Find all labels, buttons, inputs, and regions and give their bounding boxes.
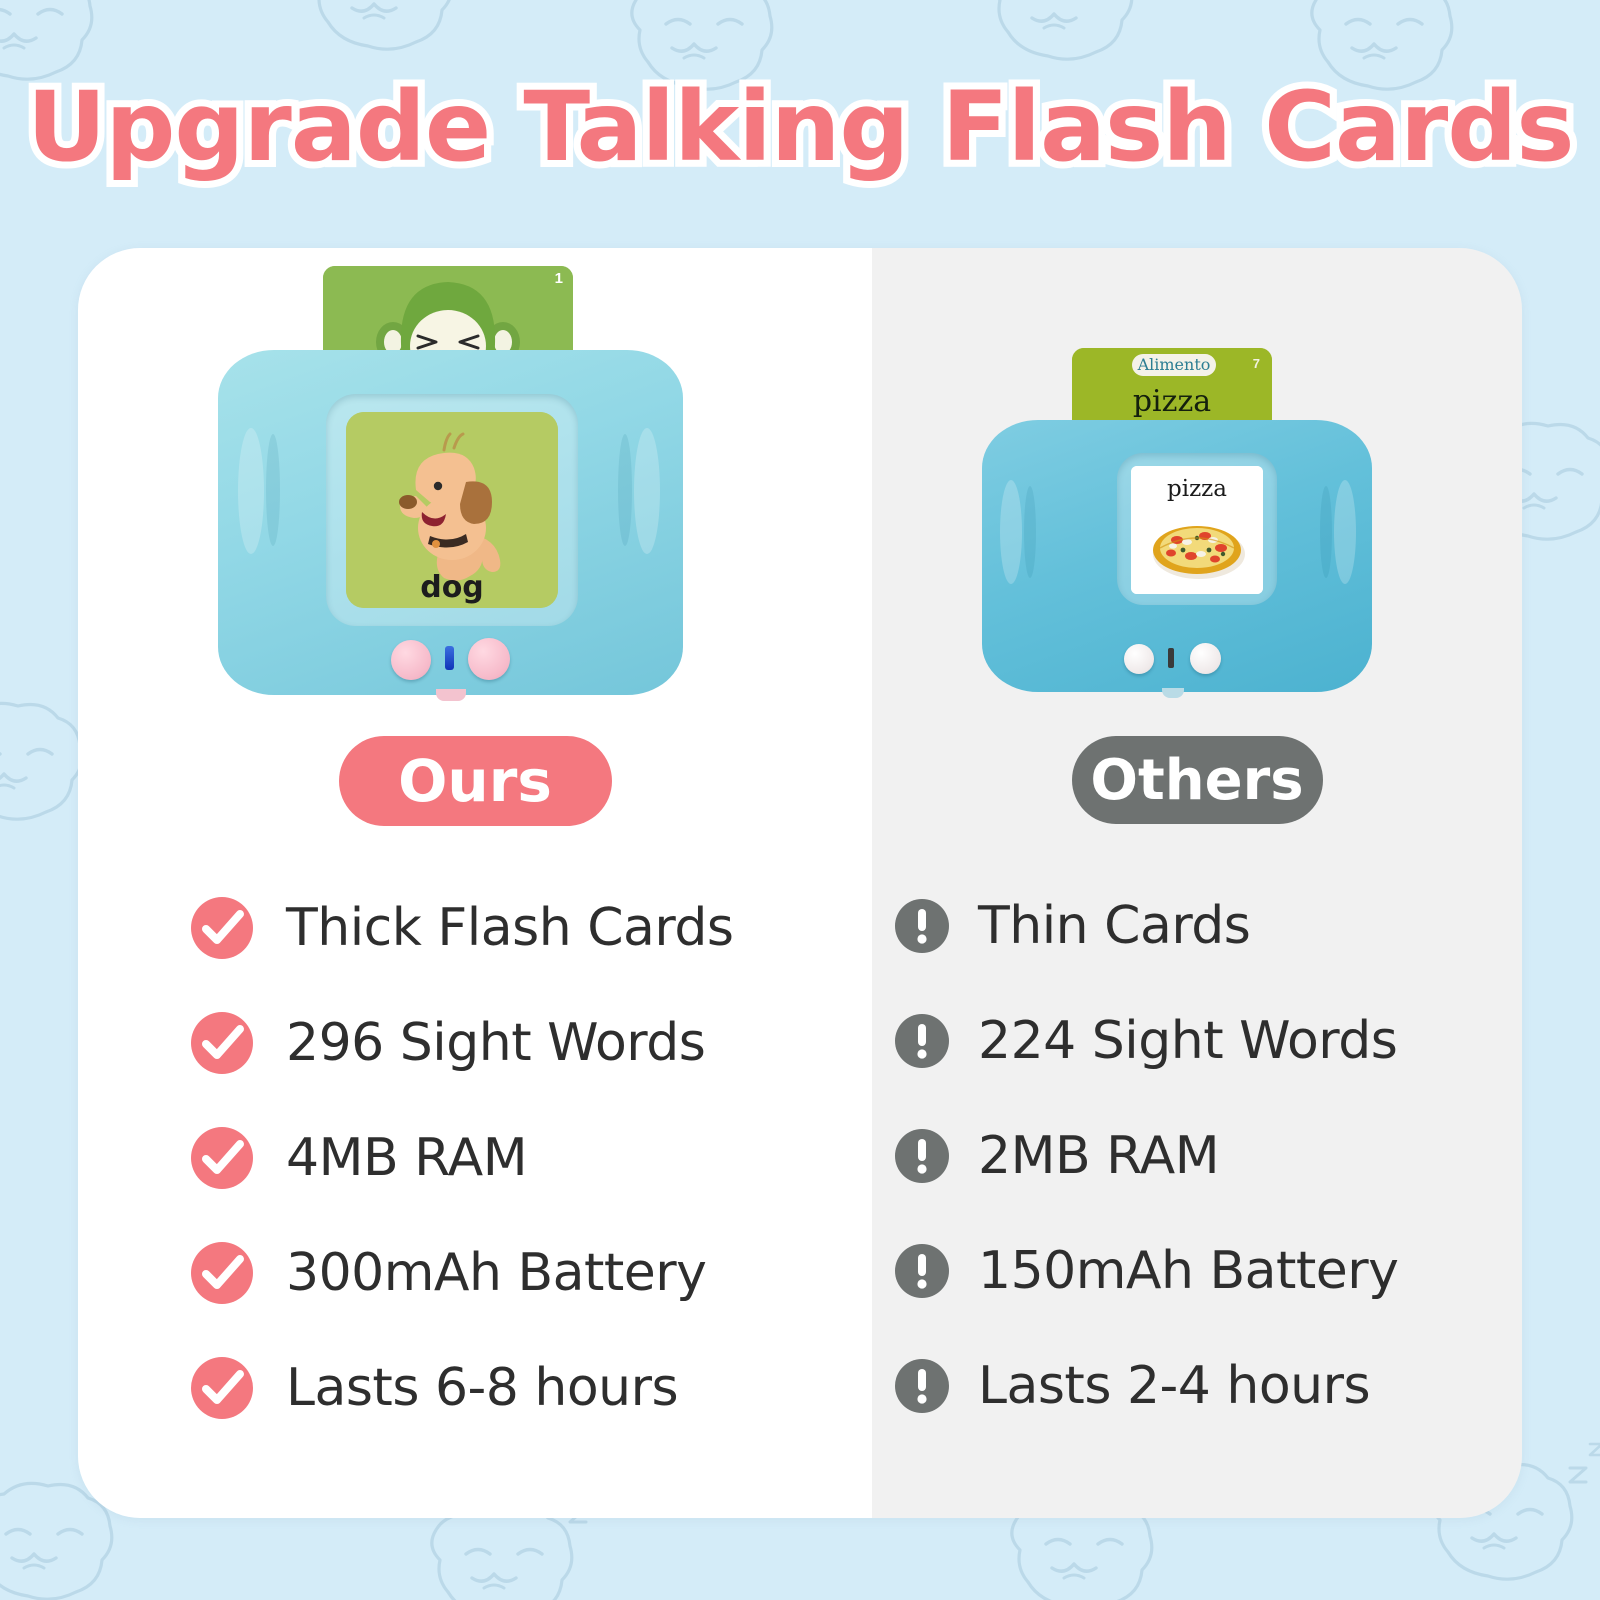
feature-label: 224 Sight Words <box>978 1011 1397 1071</box>
others-badge-row: Others <box>872 736 1522 824</box>
others-play-button[interactable] <box>1124 644 1154 674</box>
ours-volume-button[interactable] <box>468 638 510 680</box>
list-item: Thin Cards <box>894 868 1522 983</box>
ours-body-ridge <box>266 434 280 546</box>
list-item: Lasts 2-4 hours <box>894 1328 1522 1443</box>
feature-label: Lasts 6-8 hours <box>286 1358 678 1418</box>
list-item: 296 Sight Words <box>190 985 872 1100</box>
others-badge: Others <box>1072 736 1323 824</box>
others-feature-list: Thin Cards 224 Sight Words 2MB RAM 150mA… <box>872 868 1522 1443</box>
exclamation-circle-icon <box>894 898 950 954</box>
list-item: 4MB RAM <box>190 1100 872 1215</box>
exclamation-circle-icon <box>894 1243 950 1299</box>
others-panel: Alimento 7 pizza pizza <box>872 248 1522 1518</box>
ours-device-illustration: 1 <box>78 248 872 718</box>
exclamation-circle-icon <box>894 1013 950 1069</box>
check-circle-icon <box>190 1126 254 1190</box>
others-body-ridge <box>1000 480 1022 584</box>
ours-panel: 1 <box>78 248 872 1518</box>
svg-text:dog: dog <box>420 570 484 605</box>
ours-led-indicator <box>445 646 454 670</box>
ours-body-ridge <box>618 434 632 546</box>
others-card-word: pizza <box>1072 384 1272 419</box>
feature-label: Thin Cards <box>978 896 1250 956</box>
feature-label: 4MB RAM <box>286 1128 527 1188</box>
others-card-category: Alimento <box>1132 355 1216 374</box>
ours-badge: Ours <box>339 736 612 826</box>
others-volume-button[interactable] <box>1190 643 1221 674</box>
page-title: Upgrade Talking Flash Cards <box>27 71 1574 183</box>
exclamation-circle-icon <box>894 1128 950 1184</box>
list-item: 300mAh Battery <box>190 1215 872 1330</box>
check-circle-icon <box>190 1356 254 1420</box>
ours-card-number: 1 <box>555 270 563 287</box>
feature-label: Lasts 2-4 hours <box>978 1356 1370 1416</box>
ours-device-foot <box>436 689 466 701</box>
feature-label: 300mAh Battery <box>286 1243 706 1303</box>
others-screen: pizza <box>1131 466 1263 594</box>
ours-badge-row: Ours <box>78 736 872 826</box>
list-item: Thick Flash Cards <box>190 870 872 985</box>
feature-label: 296 Sight Words <box>286 1013 705 1073</box>
list-item: Lasts 6-8 hours <box>190 1330 872 1445</box>
check-circle-icon <box>190 896 254 960</box>
title-container: Upgrade Talking Flash Cards <box>0 62 1600 192</box>
exclamation-circle-icon <box>894 1358 950 1414</box>
ours-body-ridge <box>238 428 264 554</box>
ours-body-ridge <box>634 428 660 554</box>
feature-label: Thick Flash Cards <box>286 898 733 958</box>
feature-label: 150mAh Battery <box>978 1241 1398 1301</box>
others-body-ridge <box>1320 486 1332 578</box>
check-circle-icon <box>190 1241 254 1305</box>
others-body-ridge <box>1024 486 1036 578</box>
comparison-card: 1 <box>78 248 1522 1518</box>
svg-text:pizza: pizza <box>1167 476 1227 502</box>
others-device-foot <box>1162 688 1184 698</box>
others-led-indicator <box>1168 648 1174 668</box>
list-item: 150mAh Battery <box>894 1213 1522 1328</box>
list-item: 224 Sight Words <box>894 983 1522 1098</box>
pizza-photo-art: pizza <box>1131 466 1263 594</box>
others-device-illustration: Alimento 7 pizza pizza <box>872 248 1522 718</box>
feature-label: 2MB RAM <box>978 1126 1219 1186</box>
ours-feature-list: Thick Flash Cards 296 Sight Words 4MB RA… <box>78 870 872 1445</box>
check-circle-icon <box>190 1011 254 1075</box>
list-item: 2MB RAM <box>894 1098 1522 1213</box>
ours-play-button[interactable] <box>391 640 431 680</box>
ours-screen: dog <box>346 412 558 608</box>
others-body-ridge <box>1334 480 1356 584</box>
others-card-number: 7 <box>1253 356 1260 371</box>
cartoon-dog-art: dog <box>346 412 558 608</box>
